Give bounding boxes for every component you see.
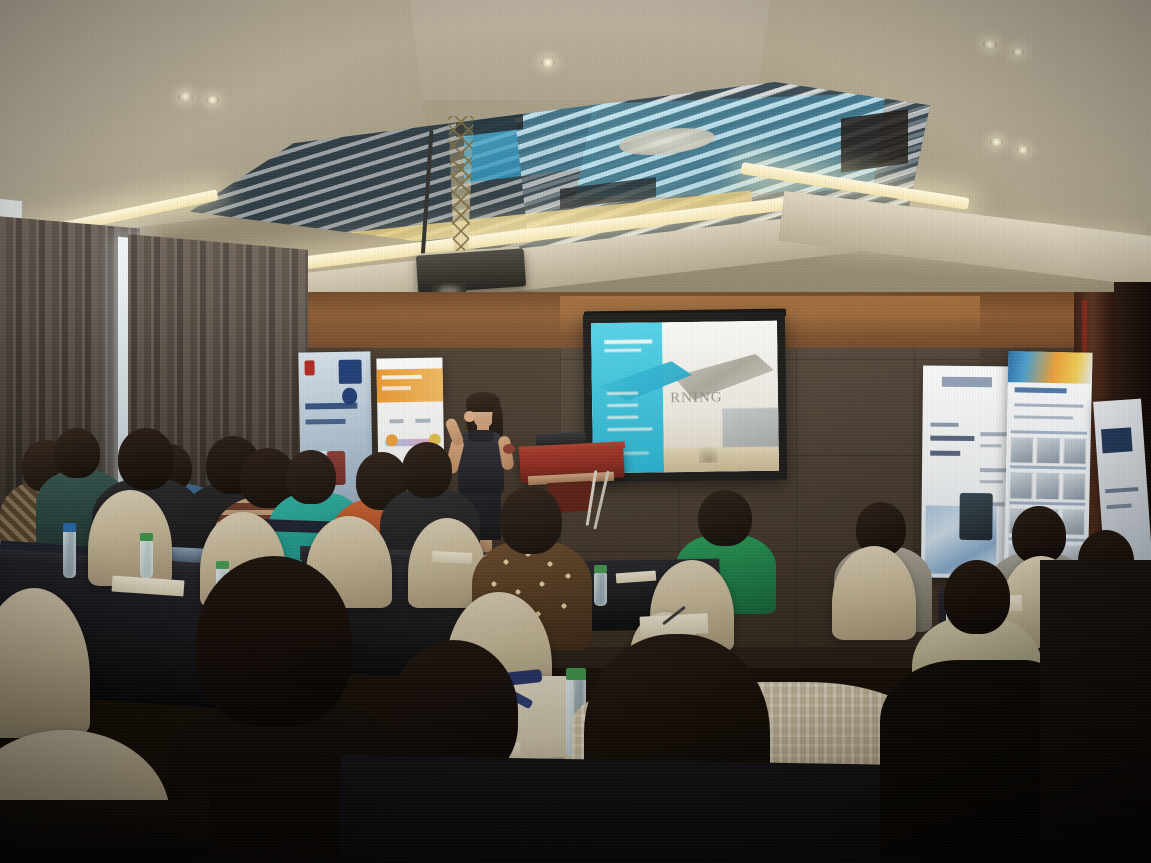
- downlight-icon: [1012, 48, 1024, 56]
- downlight-icon: [990, 138, 1003, 146]
- attendee-head: [118, 428, 174, 490]
- attendee-head: [402, 442, 452, 498]
- banner-chinese-line-2: [930, 450, 961, 455]
- banner-text-line-2: [1106, 504, 1131, 510]
- banner-row-label: [1011, 430, 1087, 435]
- attendee-head: [698, 490, 752, 546]
- slide-building-photo-b: [722, 408, 778, 448]
- banner-monitor-image: [960, 493, 993, 540]
- slide-ground: [663, 447, 779, 473]
- attendee-silhouette-right: [880, 660, 1060, 863]
- water-bottle: [63, 530, 76, 578]
- downlight-icon: [1017, 146, 1029, 154]
- banner-caption-left: [389, 419, 404, 423]
- banner-row-label: [1009, 501, 1085, 506]
- bottle-cap: [216, 561, 229, 569]
- banner-header-line-2: [382, 386, 411, 391]
- paper-sheet: [432, 551, 473, 564]
- banner-row-label: [1010, 465, 1086, 470]
- conference-room-photo: RNING: [0, 0, 1151, 863]
- presenter-hand-left: [464, 411, 475, 422]
- banner-label: [930, 423, 959, 427]
- presenter-top: [468, 430, 494, 442]
- banner-headline: [305, 403, 357, 410]
- slide-plant: [699, 437, 718, 463]
- banner-bullet-2-sub: [979, 481, 1002, 484]
- downlight-icon: [178, 92, 193, 101]
- banner-product-row: [1010, 437, 1086, 465]
- banner-caption-right: [416, 419, 431, 423]
- banner-sub-line-2: [1014, 416, 1073, 420]
- banner-header-line-1: [382, 374, 422, 379]
- banner-bullet-2: [980, 468, 1009, 472]
- banner-dark-block: [1101, 427, 1132, 453]
- water-bottle: [140, 540, 153, 578]
- banner-product-thumb: [1036, 473, 1060, 500]
- slide-bullet-1: [607, 392, 639, 395]
- downlight-icon: [206, 96, 219, 104]
- banner-chinese-line-1: [930, 436, 974, 441]
- bottle-cap: [63, 523, 76, 532]
- water-bottle: [594, 572, 607, 606]
- banner-title-line: [1014, 387, 1066, 393]
- banner-subhead: [305, 418, 345, 424]
- banner-logo: [942, 376, 992, 387]
- downlight-icon: [983, 40, 997, 49]
- banner-text-line-1: [1105, 487, 1139, 493]
- banner-bullet-1: [980, 432, 1009, 436]
- banner-product-thumb: [1010, 473, 1034, 500]
- bottle-cap: [594, 565, 607, 573]
- banner-logo-blue: [338, 359, 361, 384]
- table-foreground: [339, 755, 901, 863]
- banner-product-thumb: [1010, 437, 1034, 464]
- foreground-shadow-left: [0, 800, 210, 863]
- bottle-cap: [566, 668, 586, 680]
- foreground-shadow-right: [1040, 560, 1151, 863]
- banner-process-dot-start: [386, 434, 398, 446]
- attendee-head: [500, 486, 562, 554]
- banner-color-header: [1008, 351, 1093, 384]
- bottle-cap: [140, 533, 153, 541]
- banner-product-thumb: [1062, 474, 1086, 501]
- banner-bullet-1-sub: [980, 445, 1001, 448]
- slide-bullet-2: [607, 404, 639, 407]
- attendee-head: [54, 428, 100, 478]
- banner-product-thumb: [1063, 438, 1087, 465]
- slide-headline-text: RNING: [670, 389, 723, 407]
- attendee-head: [286, 450, 336, 504]
- presenter-hand-right: [503, 444, 515, 454]
- banner-sub-line-1: [1014, 404, 1083, 408]
- slide-title-line-2: [604, 348, 641, 352]
- downlight-icon: [541, 58, 555, 67]
- banner-product-row: [1010, 473, 1086, 501]
- slide-title-line-1: [604, 339, 652, 344]
- attendee-head-foreground: [196, 556, 352, 726]
- attendee-head: [944, 560, 1010, 634]
- banner-product-thumb: [1037, 437, 1061, 464]
- banner-logo-red: [305, 360, 315, 375]
- ceiling-dark-patch-b: [841, 110, 908, 173]
- slide-bullet-3: [607, 416, 639, 419]
